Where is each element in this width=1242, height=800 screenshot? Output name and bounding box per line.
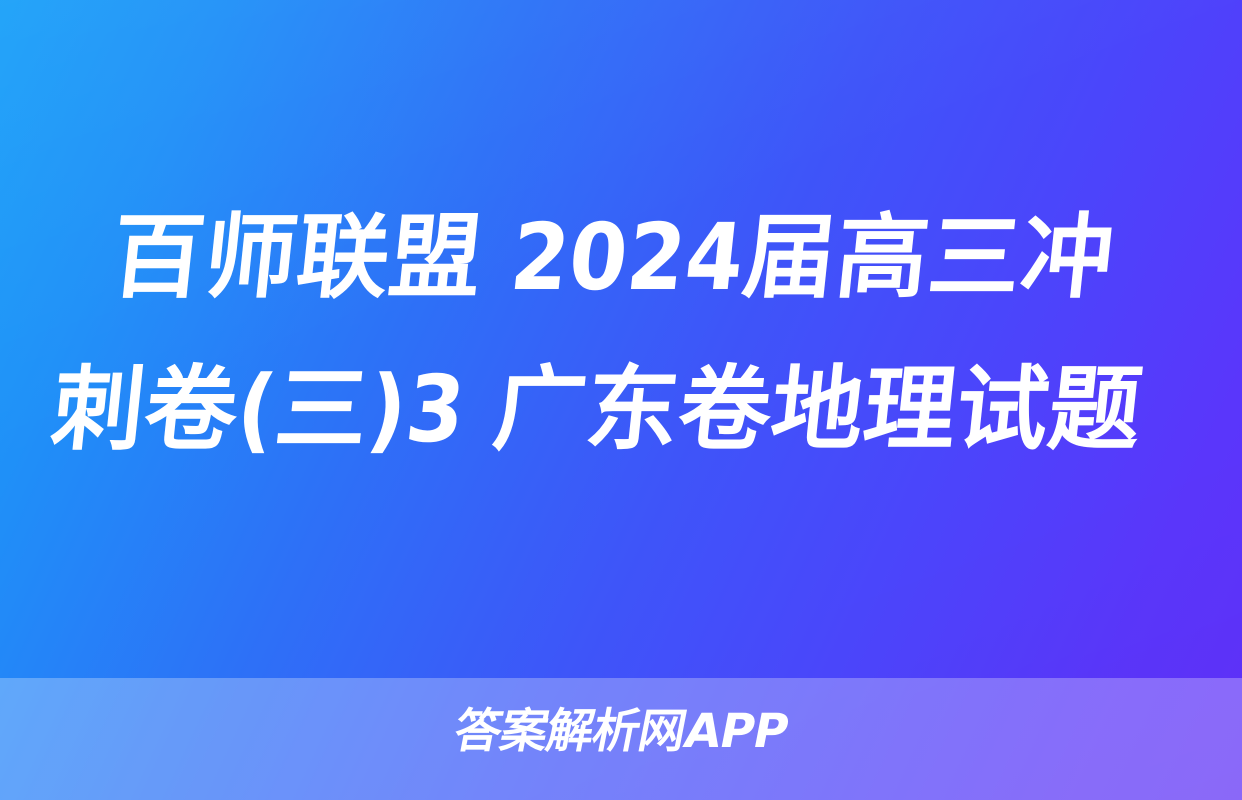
page-title: 百师联盟 2024届高三冲刺卷(三)3 广东卷地理试题 (42, 182, 1168, 486)
poster-canvas: 百师联盟 2024届高三冲刺卷(三)3 广东卷地理试题 答案解析网APP (0, 0, 1242, 800)
watermark-brand-label: 答案解析网APP (0, 703, 1242, 761)
title-block: 百师联盟 2024届高三冲刺卷(三)3 广东卷地理试题 (0, 182, 1242, 486)
